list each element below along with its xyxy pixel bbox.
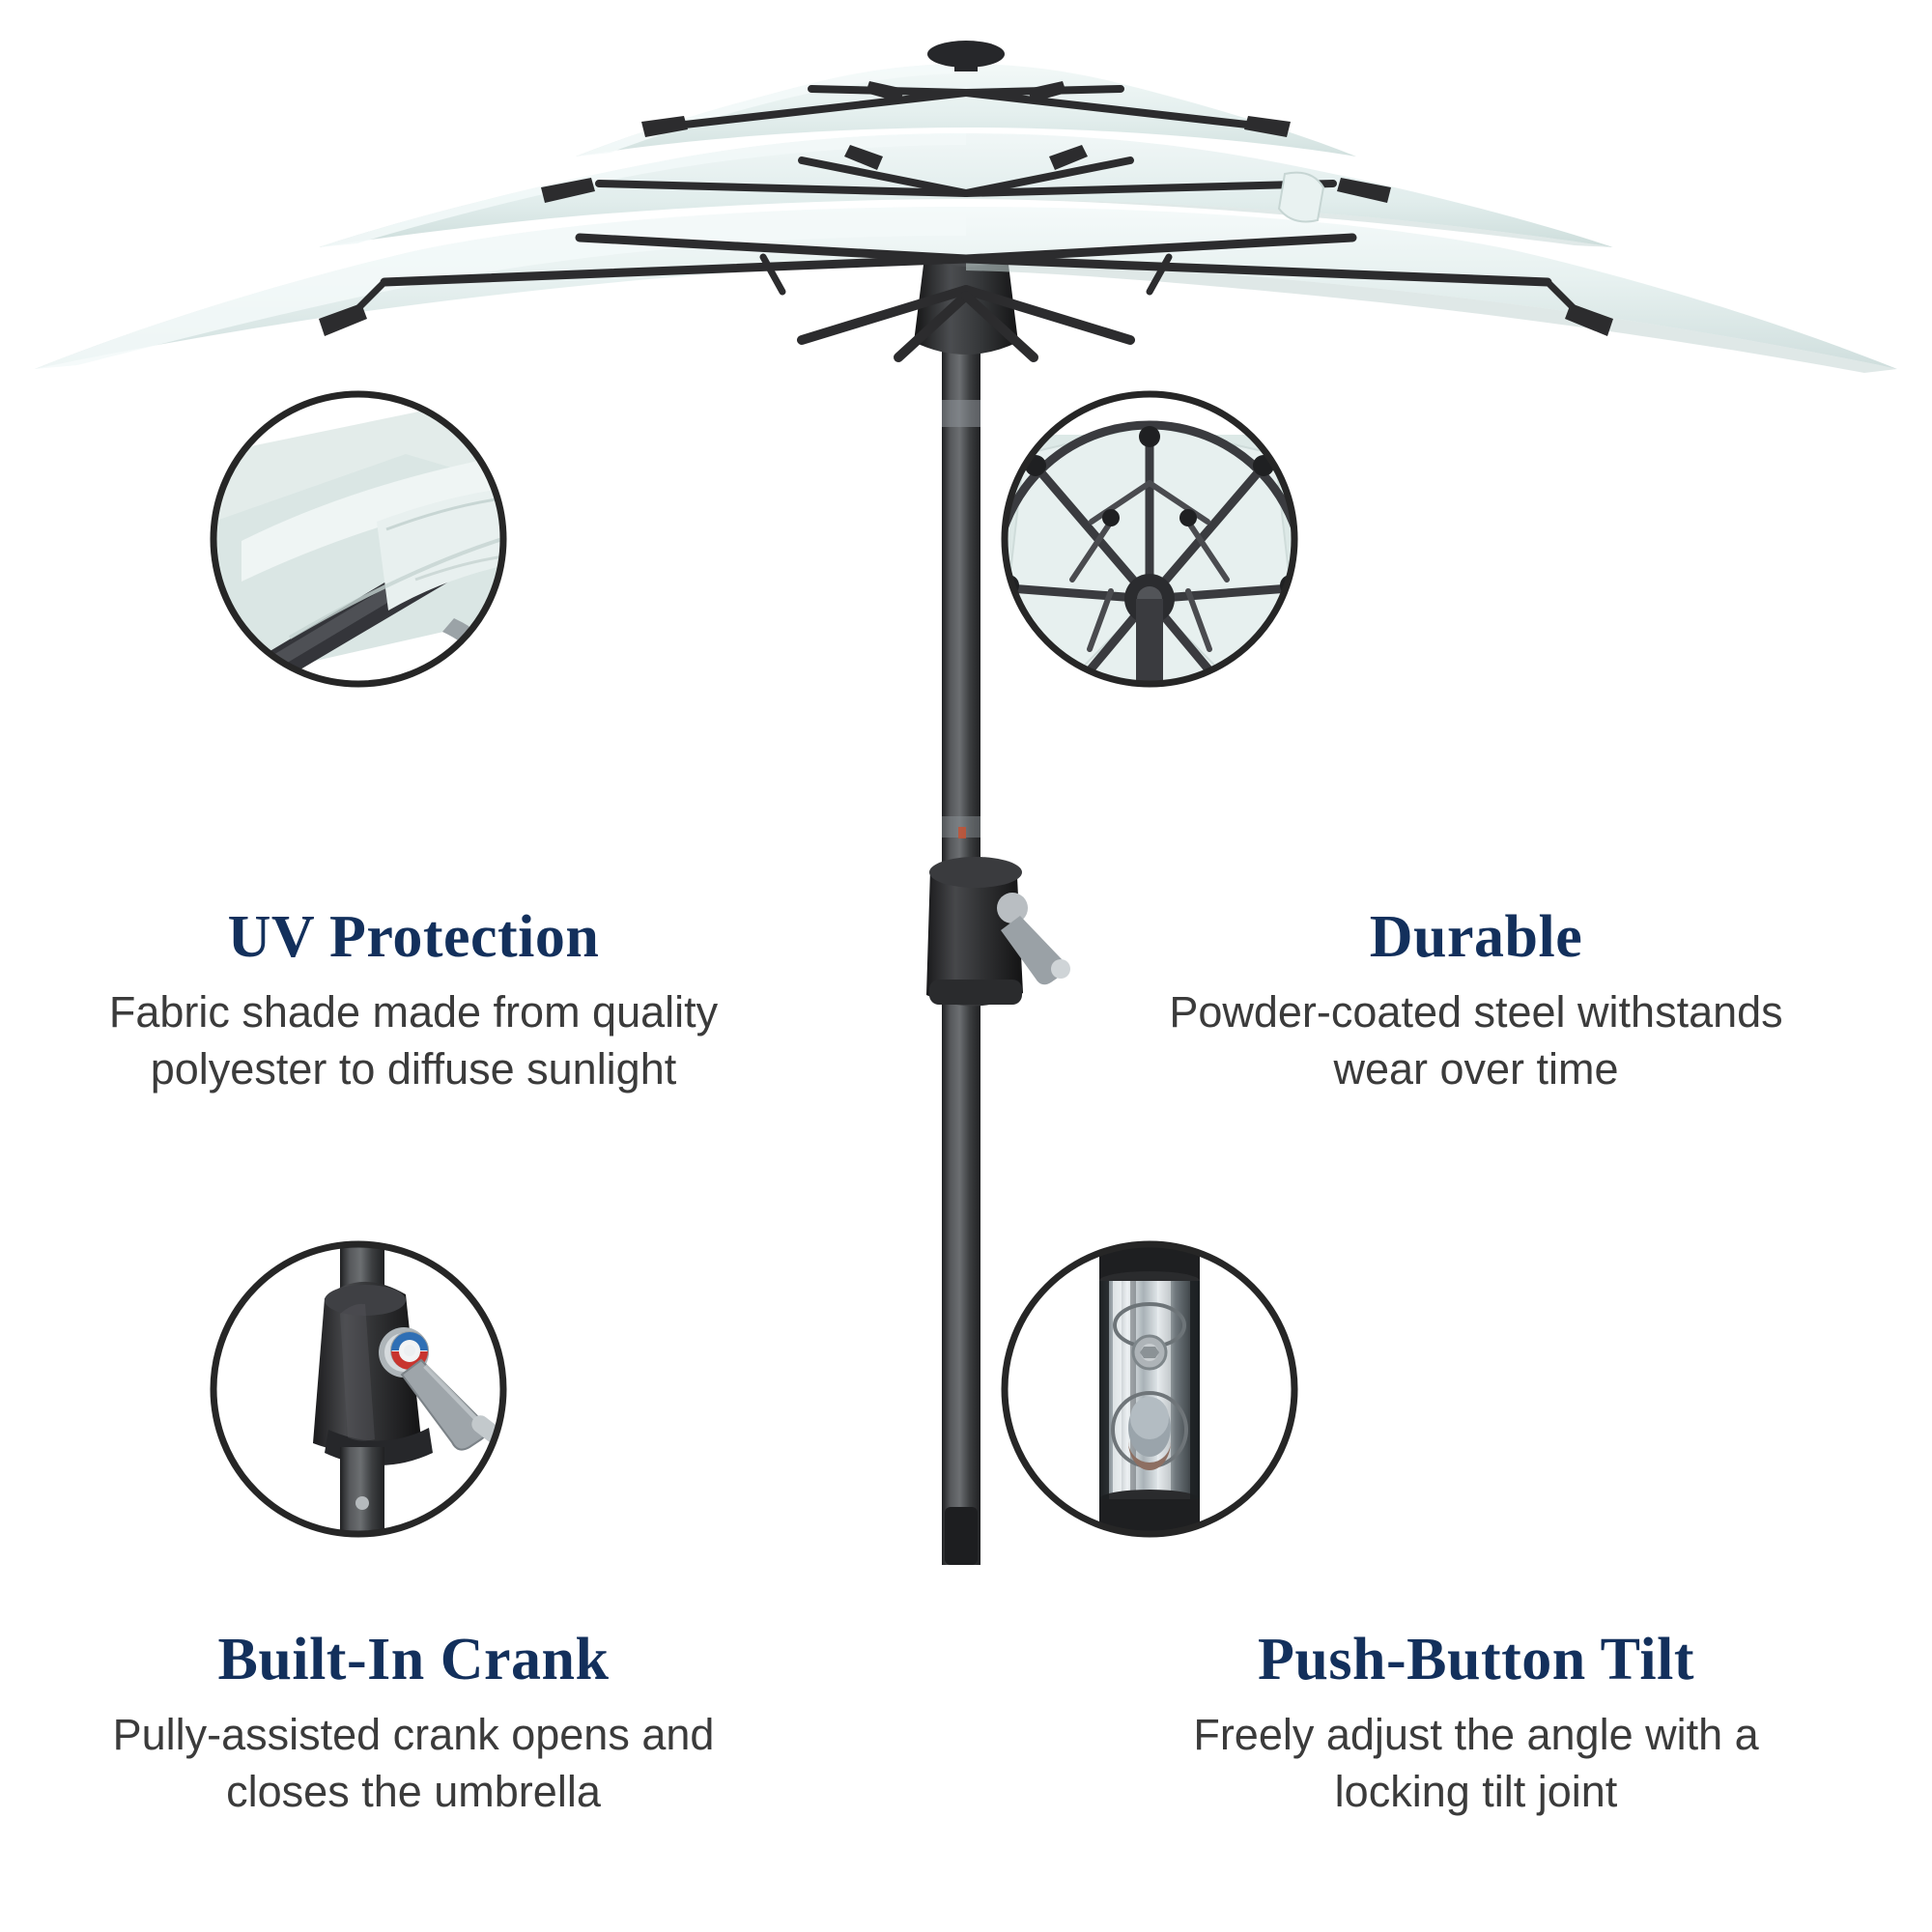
callout-durable (995, 394, 1304, 744)
callout-built-in-crank (213, 1236, 517, 1540)
crank-handle-knob (469, 1412, 517, 1458)
frame-struts (1072, 483, 1227, 649)
frame-ribs (997, 425, 1302, 744)
canopy-tier-bottom (35, 207, 1897, 373)
feature-description-push-button-tilt: Freely adjust the angle with a locking t… (1080, 1707, 1872, 1820)
canopy-ribs-top (676, 89, 1256, 126)
feature-title-built-in-crank: Built-In Crank (17, 1629, 810, 1691)
callout-uv-protection (213, 394, 512, 697)
callout-push-button-tilt (1005, 1236, 1294, 1546)
tilt-push-button (1113, 1393, 1186, 1470)
umbrella-finial (927, 41, 1005, 68)
feature-block-uv-protection: UV Protection Fabric shade made from qua… (17, 906, 810, 1097)
feature-block-durable: Durable Powder-coated steel withstands w… (1080, 906, 1872, 1097)
vent-flap (1279, 173, 1323, 222)
feature-block-built-in-crank: Built-In Crank Pully-assisted crank open… (17, 1629, 810, 1820)
feature-block-push-button-tilt: Push-Button Tilt Freely adjust the angle… (1080, 1629, 1872, 1820)
umbrella-graphic (35, 41, 1897, 1565)
canopy-ribs-middle (599, 160, 1333, 193)
canopy-tier-middle (319, 133, 1613, 247)
frame-joints (998, 426, 1301, 704)
umbrella-pole (942, 290, 980, 1565)
canopy-tier-top (576, 41, 1356, 156)
umbrella-hub (914, 235, 1018, 355)
tilt-screw (1133, 1336, 1166, 1369)
support-struts (802, 290, 1130, 357)
feature-description-durable: Powder-coated steel withstands wear over… (1080, 984, 1872, 1097)
crank-housing (313, 1282, 421, 1453)
feature-description-uv-protection: Fabric shade made from quality polyester… (17, 984, 810, 1097)
feature-title-durable: Durable (1080, 906, 1872, 969)
tilt-barrel (1099, 1281, 1200, 1499)
infographic-page: UV Protection Fabric shade made from qua… (0, 0, 1932, 1932)
main-crank-housing (926, 857, 1070, 1007)
feature-title-uv-protection: UV Protection (17, 906, 810, 969)
rib-tips-bottom (319, 303, 1613, 336)
crank-open-close-sticker (391, 1332, 428, 1370)
feature-description-built-in-crank: Pully-assisted crank opens and closes th… (17, 1707, 810, 1820)
canopy-ribs-bottom (384, 238, 1548, 282)
crank-arm (402, 1360, 488, 1450)
feature-title-push-button-tilt: Push-Button Tilt (1080, 1629, 1872, 1691)
